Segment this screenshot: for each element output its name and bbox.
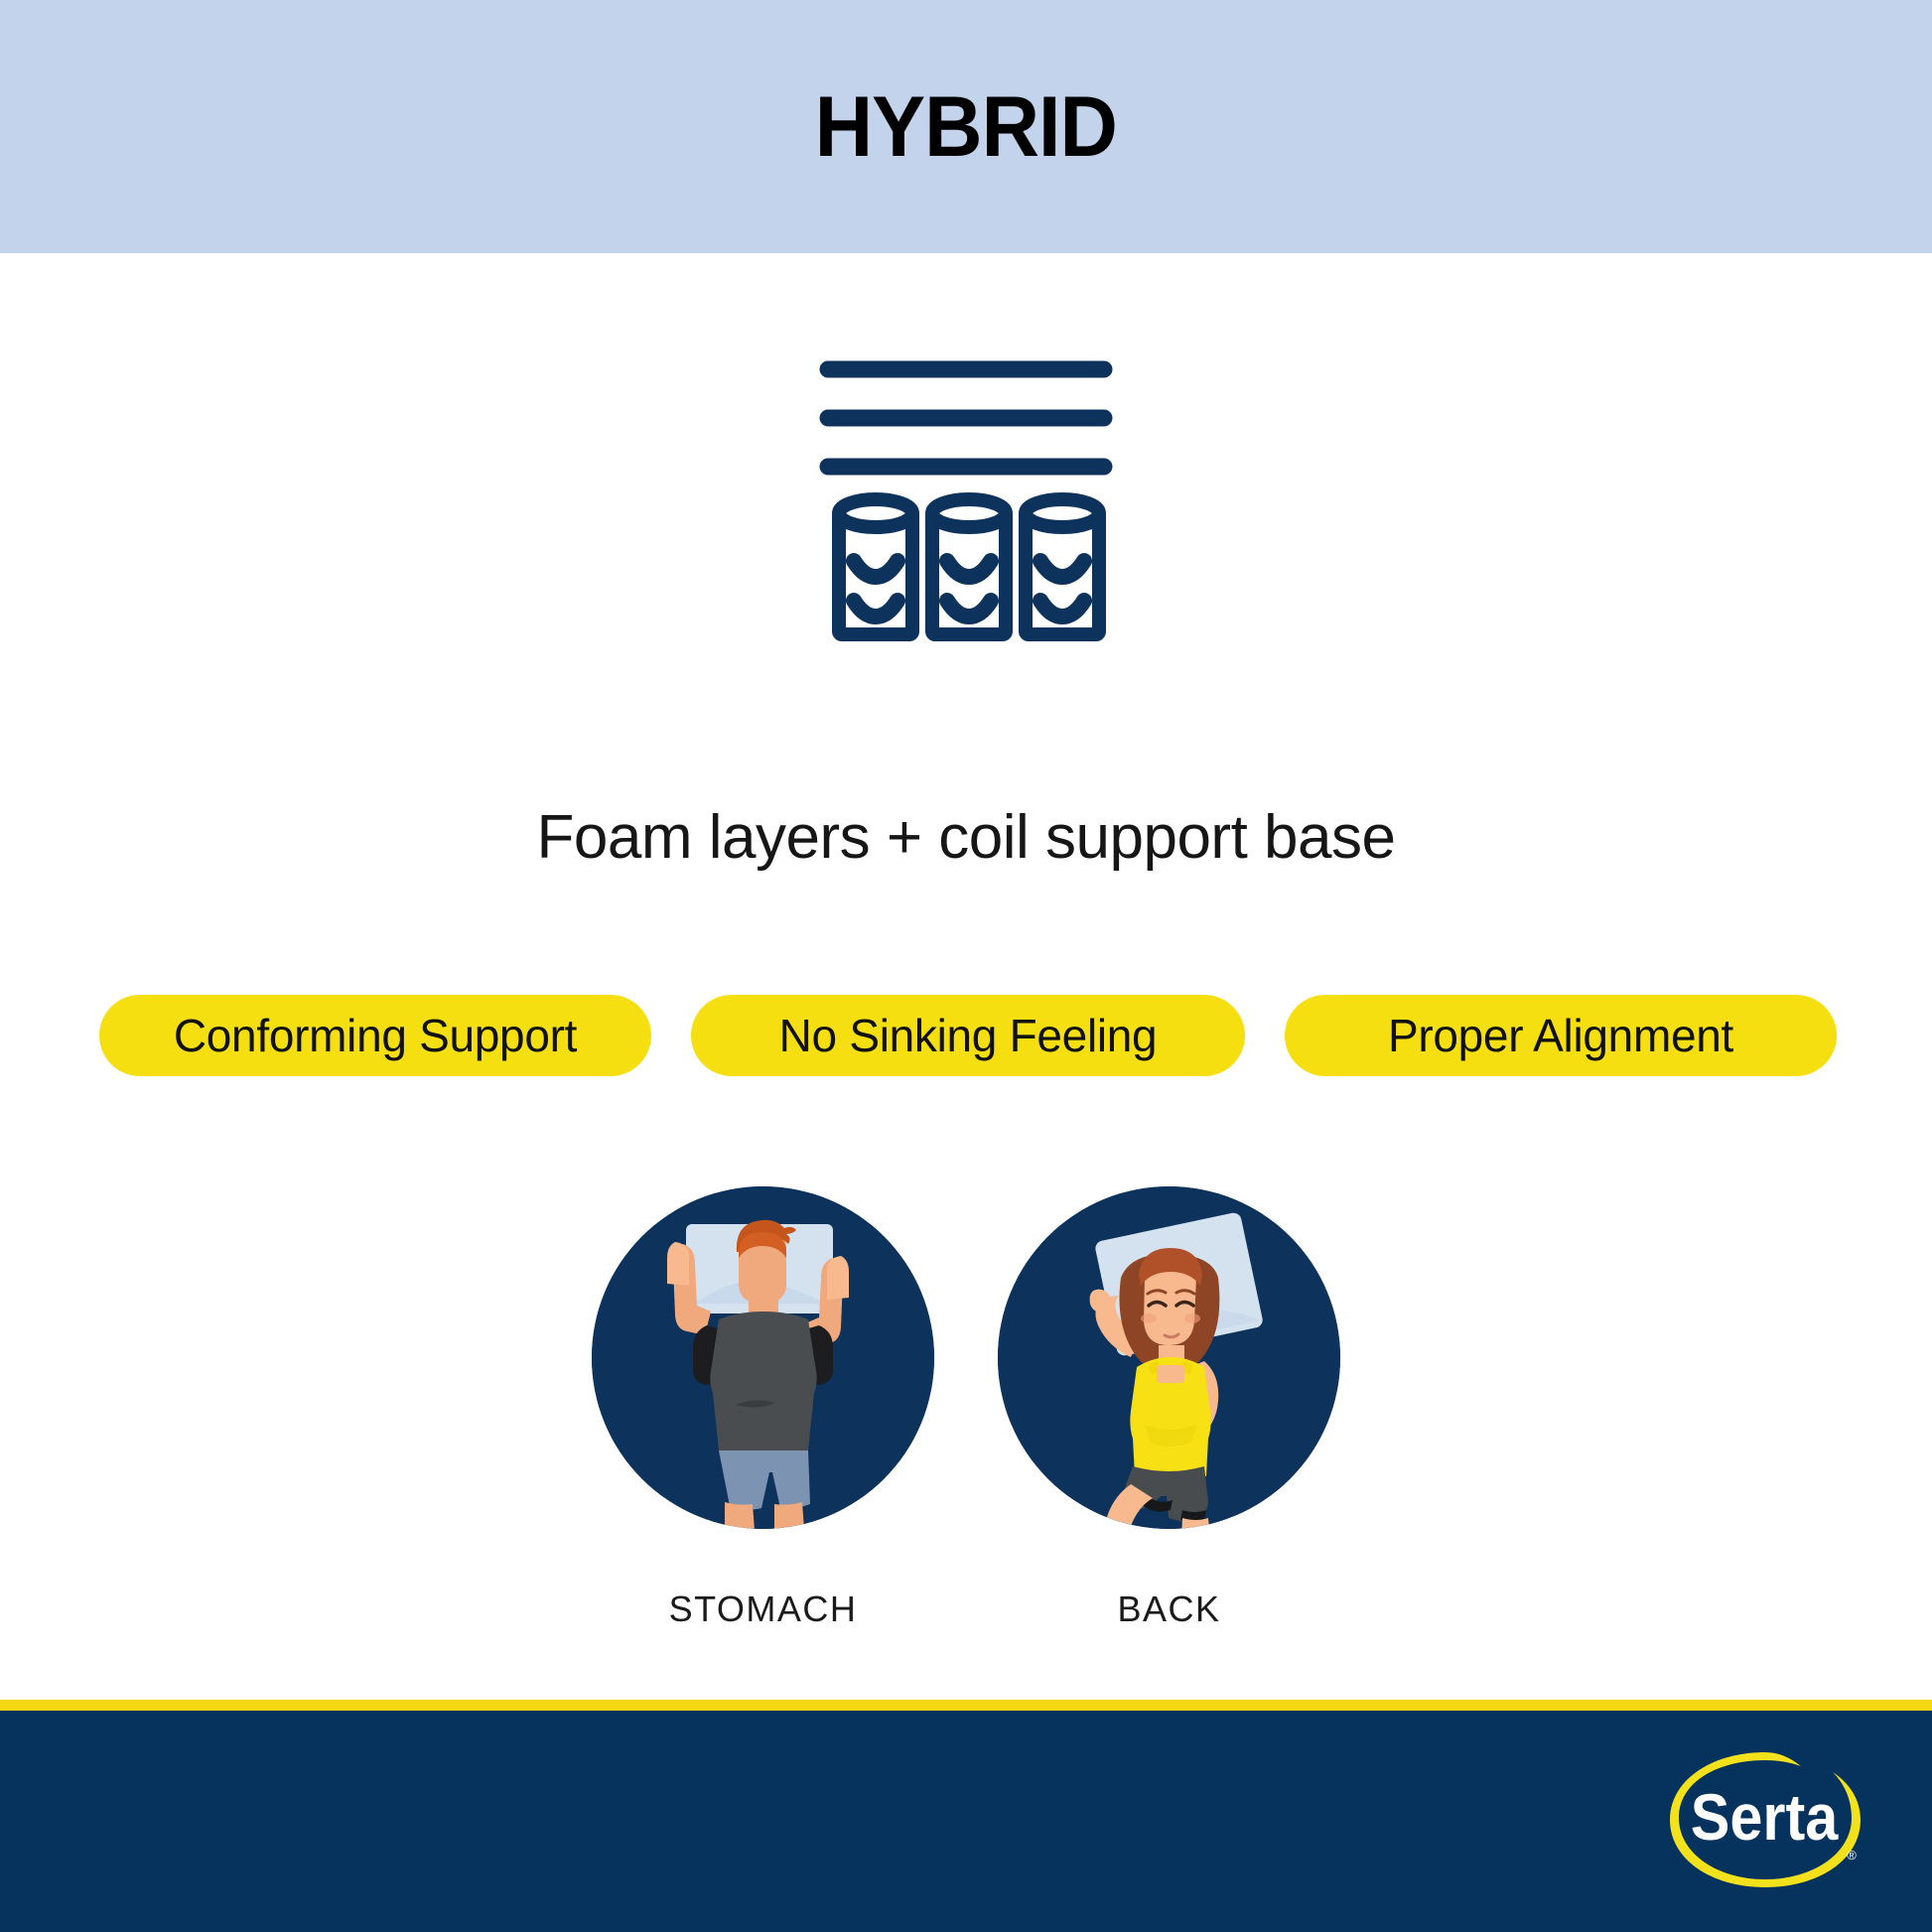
back-sleeper-illustration <box>998 1186 1340 1529</box>
sleep-position-label-back: BACK <box>1117 1588 1220 1630</box>
hybrid-icon-container <box>0 357 1932 645</box>
back-sleeper-circle <box>998 1186 1340 1529</box>
footer-band <box>0 1711 1932 1932</box>
stomach-sleeper-circle <box>592 1186 934 1529</box>
feature-pill-conforming-support[interactable]: Conforming Support <box>99 995 651 1076</box>
support-coil <box>839 499 912 634</box>
sleep-position-back[interactable]: BACK <box>998 1186 1340 1630</box>
stomach-sleeper-illustration <box>592 1186 934 1529</box>
header-band: HYBRID <box>0 0 1932 253</box>
sleep-position-stomach[interactable]: STOMACH <box>592 1186 934 1630</box>
footer-accent-stripe <box>0 1700 1932 1711</box>
feature-pill-no-sinking-feeling[interactable]: No Sinking Feeling <box>691 995 1245 1076</box>
sleep-position-label-stomach: STOMACH <box>669 1588 858 1630</box>
support-coil <box>932 499 1006 634</box>
serta-wordmark: Serta <box>1691 1781 1840 1855</box>
sleep-position-row: STOMACH <box>0 1186 1932 1630</box>
support-coil <box>1026 499 1099 634</box>
feature-pill-row: Conforming Support No Sinking Feeling Pr… <box>99 995 1835 1076</box>
page-title: HYBRID <box>815 84 1117 170</box>
subtitle-text: Foam layers + coil support base <box>0 799 1932 877</box>
hybrid-mattress-icon <box>817 357 1115 645</box>
registered-trademark-symbol: ® <box>1847 1848 1857 1863</box>
serta-logo[interactable]: Serta ® <box>1648 1742 1886 1901</box>
feature-pill-proper-alignment[interactable]: Proper Alignment <box>1285 995 1837 1076</box>
